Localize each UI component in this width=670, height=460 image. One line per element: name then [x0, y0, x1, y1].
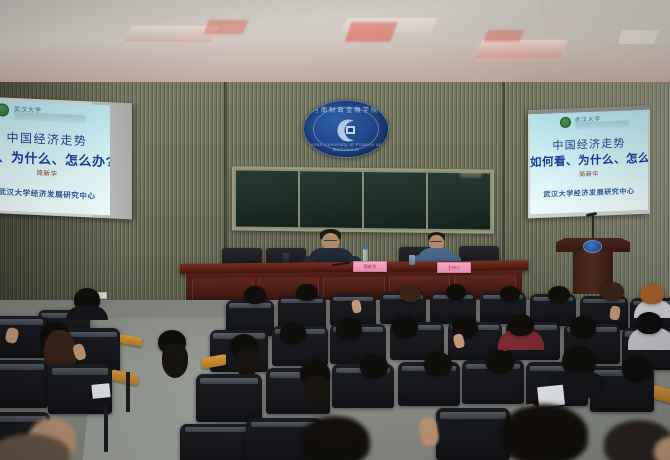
- slide-footer: 武汉大学经济发展研究中心: [530, 186, 648, 201]
- audience-head: [622, 356, 652, 382]
- audience-paper: [91, 383, 110, 399]
- seat-leg: [104, 404, 108, 452]
- audience-head-foreground: [300, 416, 370, 460]
- audience-head: [640, 284, 664, 304]
- audience-head: [600, 282, 624, 301]
- audience-shoulders: [66, 306, 108, 320]
- audience-head: [636, 312, 662, 334]
- cup[interactable]: [409, 255, 415, 265]
- left-projection-screen: 武汉大学 中国经济走势 看、为什么、怎么办? 简新华 武汉大学经济发展研究中心: [0, 97, 132, 220]
- chalk-smudge: [460, 172, 482, 177]
- emblem-crescent-glyph: [333, 118, 361, 143]
- ceiling-red-reflection: [203, 20, 249, 34]
- audience-head: [446, 284, 466, 300]
- lecture-seat[interactable]: [196, 374, 262, 422]
- nameplate-left-text: 简新华: [364, 264, 377, 270]
- glasses-icon: [430, 241, 442, 244]
- audience-head: [508, 314, 534, 336]
- lectern-emblem: [583, 240, 602, 253]
- chalkboard-panel: [300, 171, 364, 228]
- nameplate-left: 简新华: [353, 261, 387, 272]
- chalkboard-surface: [236, 170, 490, 229]
- nameplate-right-text: 主持人: [448, 265, 461, 271]
- lecture-hall-photo: 河南财政金融学院 Henan University of Finance and…: [0, 0, 670, 460]
- audience-head: [486, 350, 514, 374]
- projected-slide-left: 武汉大学 中国经济走势 看、为什么、怎么办? 简新华 武汉大学经济发展研究中心: [0, 100, 110, 216]
- audience-head-foreground: [500, 404, 588, 460]
- audience-head: [360, 354, 388, 378]
- audience-ponytail: [304, 376, 330, 412]
- chalkboard: [232, 166, 494, 233]
- chalkboard-panel: [364, 172, 428, 229]
- lecture-seat[interactable]: [436, 408, 510, 460]
- cup[interactable]: [283, 253, 289, 263]
- slide-header-image: [575, 120, 629, 129]
- ceiling-red-reflection: [344, 22, 397, 42]
- audience-head: [244, 286, 266, 304]
- glasses-icon: [478, 330, 492, 333]
- audience-head: [392, 316, 418, 338]
- chalkboard-panel: [236, 170, 300, 227]
- microphone-stem: [592, 214, 594, 238]
- seat-leg: [126, 372, 130, 412]
- lecture-seat[interactable]: [0, 360, 48, 408]
- slide-footer: 武汉大学经济发展研究中心: [0, 186, 110, 203]
- audience-head: [500, 286, 520, 302]
- audience-head: [548, 286, 570, 303]
- emblem-english-text: Henan University of Finance and Economic…: [304, 142, 388, 152]
- audience-head: [296, 284, 318, 301]
- university-emblem: 河南财政金融学院 Henan University of Finance and…: [303, 100, 389, 158]
- audience-head: [280, 322, 306, 344]
- audience-head: [424, 352, 452, 376]
- right-projection-screen: 武汉大学 中国经济走势 如何看、为什么、怎么办? 简新华 武汉大学经济发展研究中…: [528, 106, 650, 219]
- wuhan-university-logo-icon: [560, 117, 571, 128]
- nameplate-right: 主持人: [437, 262, 471, 273]
- audience-head: [336, 318, 362, 340]
- audience-ponytail: [162, 344, 188, 378]
- glasses-icon: [324, 240, 337, 243]
- audience-head: [570, 316, 596, 338]
- emblem-chinese-text: 河南财政金融学院: [304, 105, 388, 114]
- chalkboard-panel: [428, 173, 490, 230]
- projected-slide-right: 武汉大学 中国经济走势 如何看、为什么、怎么办? 简新华 武汉大学经济发展研究中…: [530, 110, 648, 215]
- audience-head: [400, 286, 421, 302]
